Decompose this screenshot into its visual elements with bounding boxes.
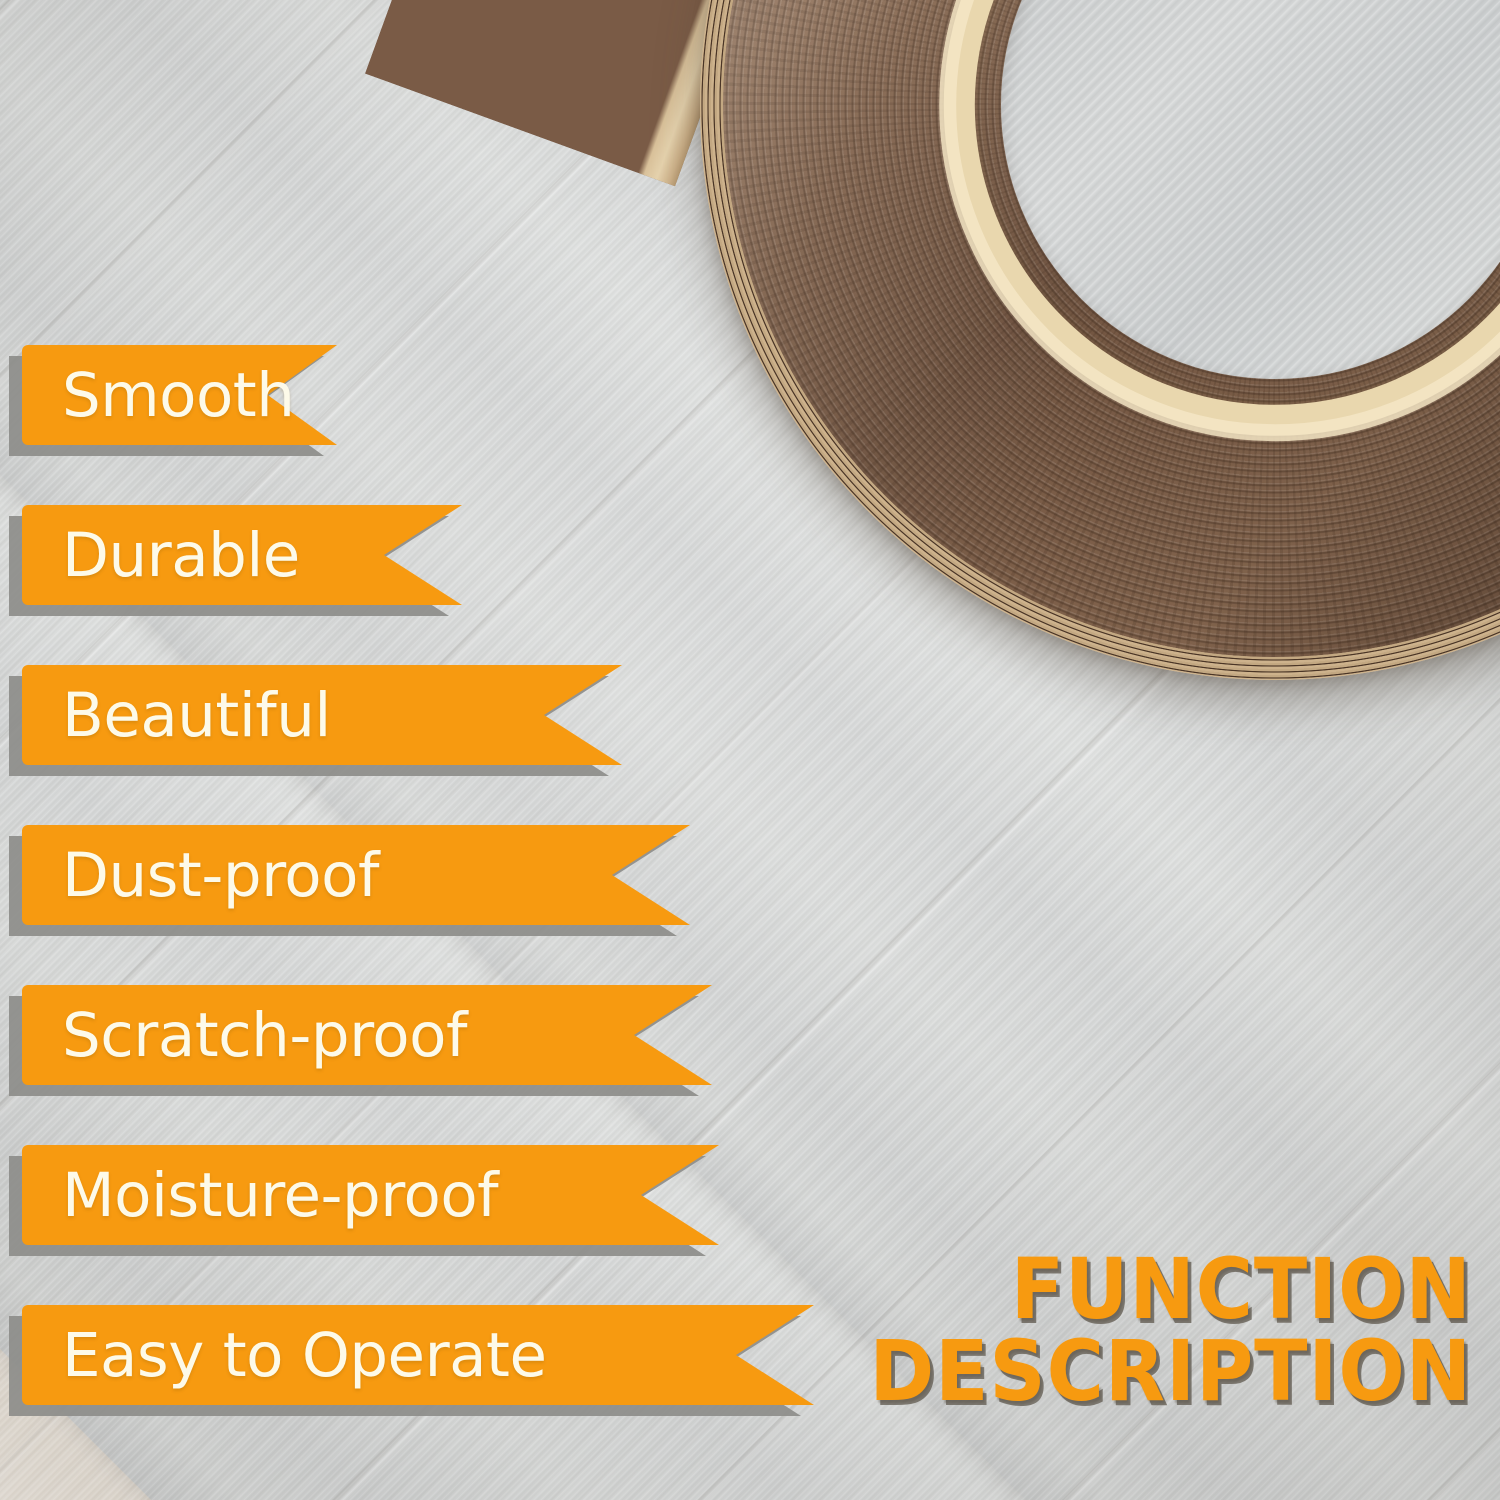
feature-banner-beautiful[interactable]: Beautiful — [22, 665, 622, 765]
heading-line-2: DESCRIPTION — [869, 1330, 1472, 1412]
feature-banner-label: Scratch-proof — [22, 1005, 467, 1066]
feature-banner-label: Easy to Operate — [22, 1325, 547, 1386]
product-feature-graphic: SmoothDurableBeautifulDust-proofScratch-… — [0, 0, 1500, 1500]
feature-banner-dust-proof[interactable]: Dust-proof — [22, 825, 690, 925]
feature-banner-label: Smooth — [22, 365, 294, 426]
feature-banner-label: Durable — [22, 525, 300, 586]
feature-banner-durable[interactable]: Durable — [22, 505, 462, 605]
feature-banner-smooth[interactable]: Smooth — [22, 345, 337, 445]
feature-banner-label: Beautiful — [22, 685, 331, 746]
heading-line-1: FUNCTION — [1011, 1248, 1472, 1330]
feature-banner-moisture-proof[interactable]: Moisture-proof — [22, 1145, 719, 1245]
feature-banner-easy-to-operate[interactable]: Easy to Operate — [22, 1305, 814, 1405]
feature-banner-label: Dust-proof — [22, 845, 379, 906]
feature-banner-label: Moisture-proof — [22, 1165, 498, 1226]
feature-banner-scratch-proof[interactable]: Scratch-proof — [22, 985, 712, 1085]
